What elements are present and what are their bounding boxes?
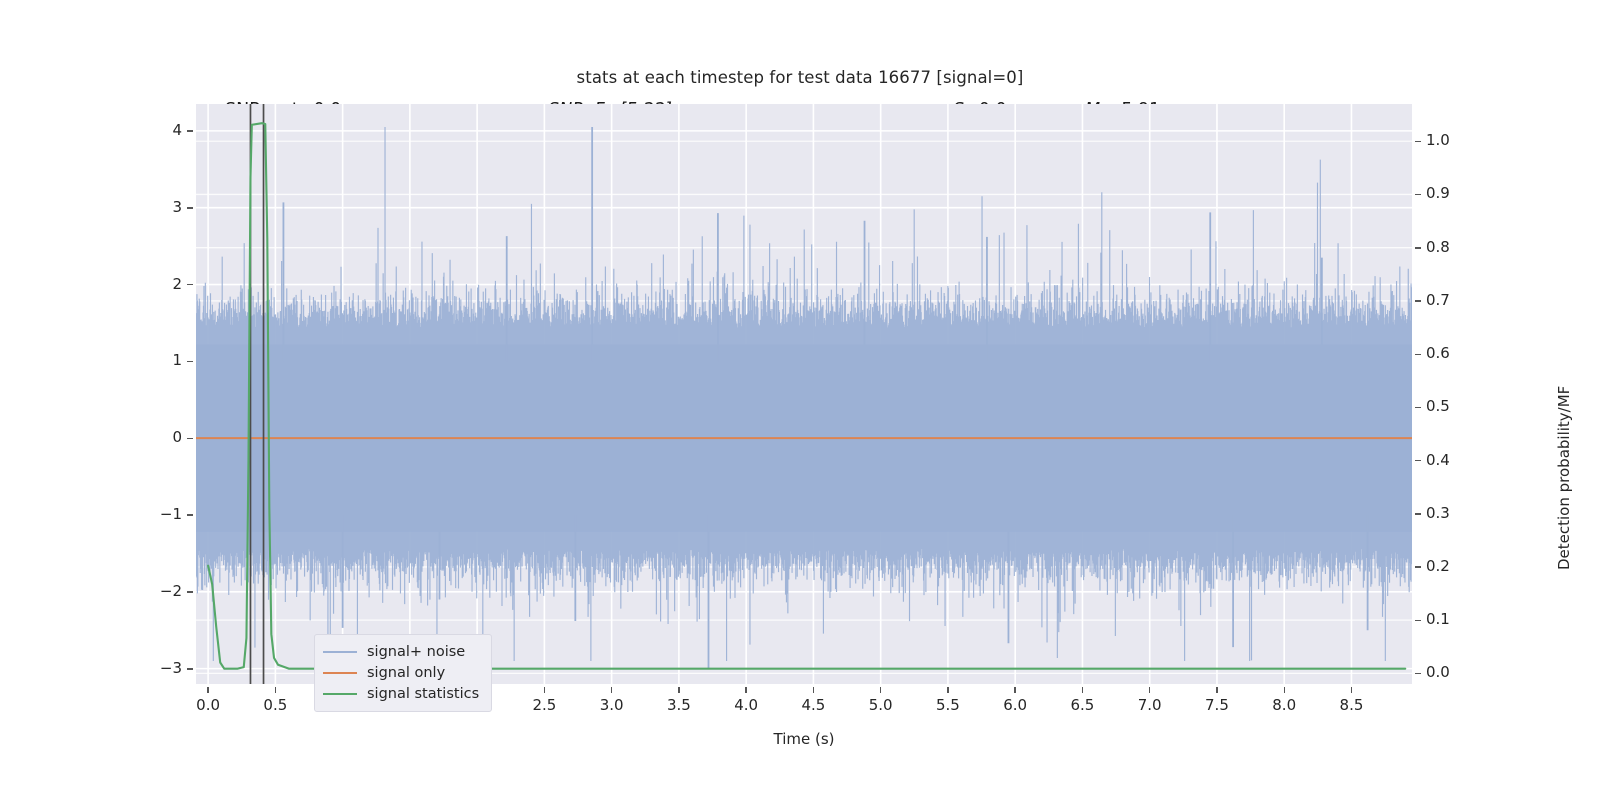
y-tick-left-2: 2 (136, 275, 182, 293)
y-tick-right-5: 0.5 (1426, 397, 1474, 415)
y-tick-left-5: −1 (136, 505, 182, 523)
y-tick-left-3: 1 (136, 351, 182, 369)
page-title: stats at each timestep for test data 166… (0, 68, 1600, 87)
tick-mark (1415, 407, 1421, 408)
tick-mark (187, 361, 193, 362)
legend-label-signal-noise: signal+ noise (367, 644, 465, 660)
tick-mark (187, 591, 193, 592)
y-tick-right-0: 1.0 (1426, 131, 1474, 149)
tick-mark (1415, 354, 1421, 355)
tick-mark (1216, 687, 1217, 693)
y-tick-left-7: −3 (136, 659, 182, 677)
x-tick-13: 6.5 (1052, 696, 1112, 714)
y-tick-left-6: −2 (136, 582, 182, 600)
tick-mark (187, 284, 193, 285)
tick-mark (187, 514, 193, 515)
x-tick-6: 3.0 (582, 696, 642, 714)
x-tick-14: 7.0 (1120, 696, 1180, 714)
x-tick-9: 4.5 (783, 696, 843, 714)
x-tick-10: 5.0 (851, 696, 911, 714)
tick-mark (187, 130, 193, 131)
tick-mark (1415, 620, 1421, 621)
legend-item[interactable]: signal+ noise (323, 641, 483, 662)
plot-area (196, 104, 1412, 684)
tick-mark (611, 687, 612, 693)
tick-mark (207, 687, 208, 693)
x-tick-5: 2.5 (514, 696, 574, 714)
y-tick-left-0: 4 (136, 121, 182, 139)
tick-mark (947, 687, 948, 693)
x-tick-7: 3.5 (649, 696, 709, 714)
x-tick-15: 7.5 (1187, 696, 1247, 714)
tick-mark (880, 687, 881, 693)
x-tick-8: 4.0 (716, 696, 776, 714)
tick-mark (275, 687, 276, 693)
y-tick-right-10: 0.0 (1426, 663, 1474, 681)
y-tick-right-1: 0.9 (1426, 184, 1474, 202)
tick-mark (1415, 194, 1421, 195)
tick-mark (1284, 687, 1285, 693)
tick-mark (1415, 566, 1421, 567)
legend-item[interactable]: signal only (323, 662, 483, 683)
y-tick-right-2: 0.8 (1426, 238, 1474, 256)
legend-label-signal-statistics: signal statistics (367, 686, 479, 702)
y-axis-label-right: Detection probability/MF (1555, 386, 1573, 570)
tick-mark (1415, 247, 1421, 248)
legend-label-signal-only: signal only (367, 665, 445, 681)
x-tick-17: 8.5 (1321, 696, 1381, 714)
x-tick-12: 6.0 (985, 696, 1045, 714)
tick-mark (1415, 300, 1421, 301)
legend-swatch-signal-only (323, 672, 357, 674)
tick-mark (1415, 673, 1421, 674)
tick-mark (187, 668, 193, 669)
y-tick-right-8: 0.2 (1426, 557, 1474, 575)
x-tick-1: 0.5 (245, 696, 305, 714)
tick-mark (745, 687, 746, 693)
tick-mark (1415, 513, 1421, 514)
tick-mark (187, 438, 193, 439)
y-tick-right-7: 0.3 (1426, 504, 1474, 522)
figure-canvas: stats at each timestep for test data 166… (0, 0, 1600, 800)
tick-mark (1415, 460, 1421, 461)
x-tick-11: 5.5 (918, 696, 978, 714)
x-axis-label: Time (s) (196, 730, 1412, 748)
series-lines (196, 104, 1412, 684)
y-tick-right-6: 0.4 (1426, 451, 1474, 469)
tick-mark (1351, 687, 1352, 693)
y-tick-left-4: 0 (136, 428, 182, 446)
legend-swatch-signal-statistics (323, 693, 357, 695)
tick-mark (187, 207, 193, 208)
legend-item[interactable]: signal statistics (323, 683, 483, 704)
tick-mark (813, 687, 814, 693)
tick-mark (544, 687, 545, 693)
tick-mark (1149, 687, 1150, 693)
tick-mark (678, 687, 679, 693)
tick-mark (1415, 141, 1421, 142)
x-tick-0: 0.0 (178, 696, 238, 714)
y-tick-right-9: 0.1 (1426, 610, 1474, 628)
y-tick-left-1: 3 (136, 198, 182, 216)
legend-swatch-signal-noise (323, 651, 357, 653)
legend: signal+ noise signal only signal statist… (314, 634, 492, 712)
tick-mark (1014, 687, 1015, 693)
y-tick-right-3: 0.7 (1426, 291, 1474, 309)
tick-mark (1082, 687, 1083, 693)
y-tick-right-4: 0.6 (1426, 344, 1474, 362)
x-tick-16: 8.0 (1254, 696, 1314, 714)
